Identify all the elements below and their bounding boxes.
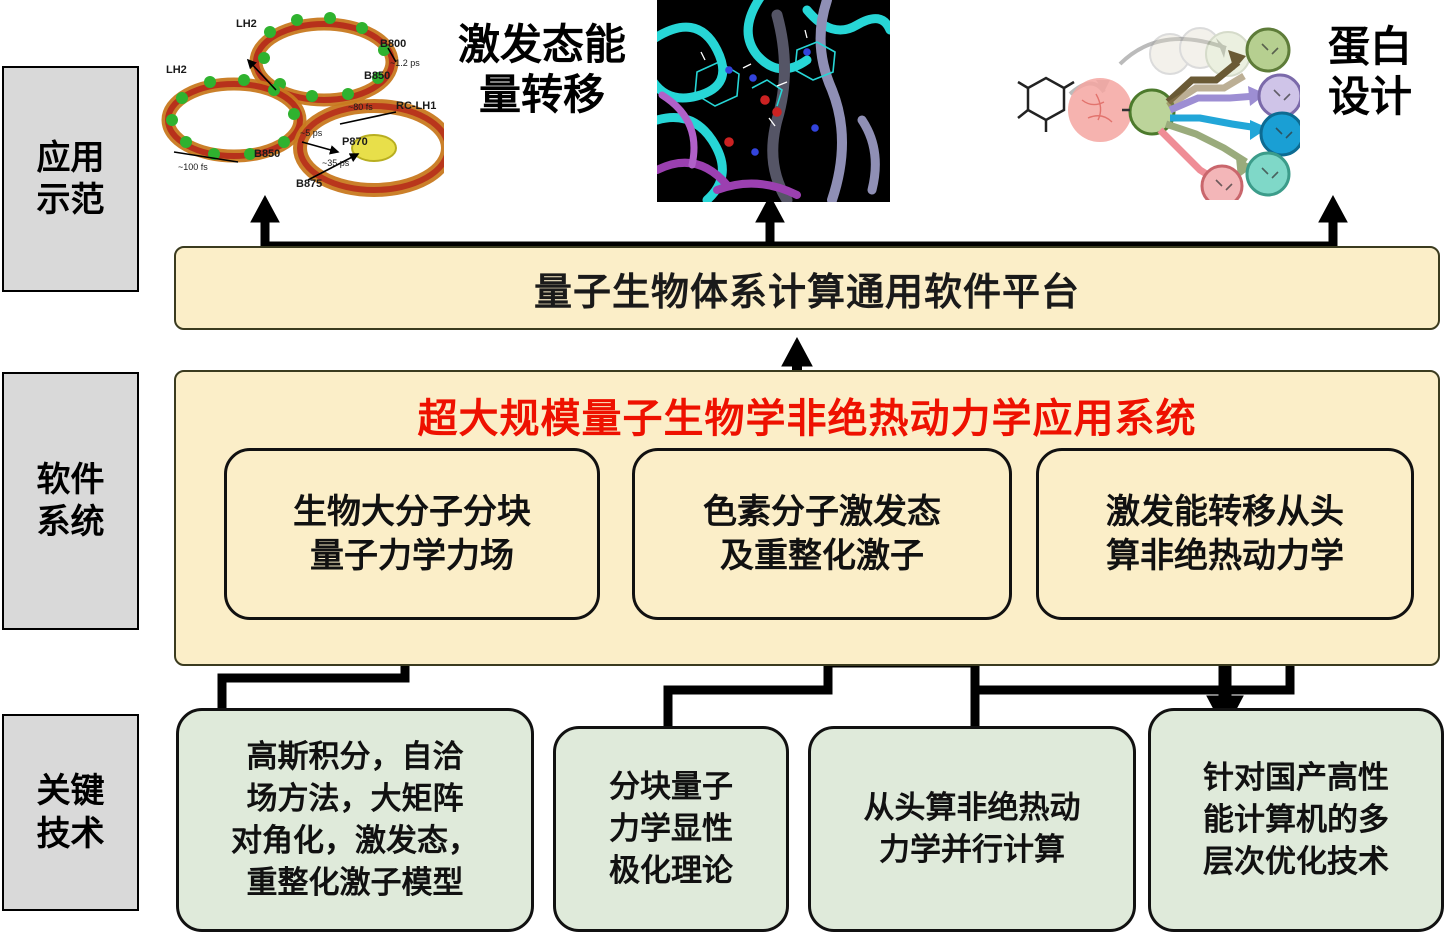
molecular-structure-illustration xyxy=(657,0,890,202)
tech-box-fragment-qm-polarization[interactable]: 分块量子 力学显性 极化理论 xyxy=(553,726,789,932)
software-platform-bar[interactable]: 量子生物体系计算通用软件平台 xyxy=(174,246,1440,330)
lh-label-lh2-left: LH2 xyxy=(166,64,187,76)
tech-label: 分块量子 力学显性 极化理论 xyxy=(609,766,733,892)
lh-rate-5: ~100 fs xyxy=(178,162,208,172)
category-label: 关键 技术 xyxy=(37,770,105,855)
platform-label: 量子生物体系计算通用软件平台 xyxy=(534,261,1080,316)
card-label: 色素分子激发态 及重整化激子 xyxy=(703,490,941,578)
lh-rate-1: ~1.2 ps xyxy=(390,58,420,68)
sidebar-item-software-system[interactable]: 软件 系统 xyxy=(2,372,139,630)
lh-label-b800: B800 xyxy=(380,38,406,50)
software-card-fragment-qm-force-field[interactable]: 生物大分子分块 量子力学力场 xyxy=(224,448,600,620)
tech-label: 高斯积分，自洽 场方法，大矩阵 对角化，激发态， 重整化激子模型 xyxy=(231,736,479,903)
tech-box-gaussian-scf-diagonalization[interactable]: 高斯积分，自洽 场方法，大矩阵 对角化，激发态， 重整化激子模型 xyxy=(176,708,534,932)
tech-label: 针对国产高性 能计算机的多 层次优化技术 xyxy=(1203,757,1389,883)
lh-rate-4: ~35 ps xyxy=(322,158,349,168)
software-system-panel: 超大规模量子生物学非绝热动力学应用系统 生物大分子分块 量子力学力场 色素分子激… xyxy=(174,370,1440,666)
software-card-pigment-excited-state-exciton[interactable]: 色素分子激发态 及重整化激子 xyxy=(632,448,1012,620)
software-system-title: 超大规模量子生物学非绝热动力学应用系统 xyxy=(176,386,1438,444)
card-label: 生物大分子分块 量子力学力场 xyxy=(293,490,531,578)
category-label: 应用 示范 xyxy=(37,137,105,222)
lh-label-rc-lh1: RC-LH1 xyxy=(396,100,436,112)
sidebar-item-application-demo[interactable]: 应用 示范 xyxy=(2,66,139,292)
caption-protein-design: 蛋白 设计 xyxy=(1300,22,1440,123)
lh-label-b875: B875 xyxy=(296,178,322,190)
category-label: 软件 系统 xyxy=(37,459,105,544)
protein-design-illustration xyxy=(1000,14,1300,200)
lh-label-p870: P870 xyxy=(342,136,368,148)
light-harvesting-complex-illustration: LH2 LH2 B800 B850 B850 RC-LH1 P870 B875 … xyxy=(152,2,444,210)
caption-excited-state-energy-transfer: 激发态能 量转移 xyxy=(432,20,652,121)
lh-label-lh2-top: LH2 xyxy=(236,18,257,30)
card-label: 激发能转移从头 算非绝热动力学 xyxy=(1106,490,1344,578)
lh-rate-2: ~80 fs xyxy=(348,102,373,112)
tech-label: 从头算非绝热动 力学并行计算 xyxy=(864,787,1081,871)
tech-box-domestic-hpc-optimization[interactable]: 针对国产高性 能计算机的多 层次优化技术 xyxy=(1148,708,1444,932)
sidebar-item-key-technology[interactable]: 关键 技术 xyxy=(2,714,139,911)
lh-label-b850-left: B850 xyxy=(254,148,280,160)
tech-box-ab-initio-parallel-computing[interactable]: 从头算非绝热动 力学并行计算 xyxy=(808,726,1136,932)
lh-label-b850-top: B850 xyxy=(364,70,390,82)
lh-rate-3: ~5 ps xyxy=(300,128,322,138)
software-card-eet-ab-initio-nonadiabatic[interactable]: 激发能转移从头 算非绝热动力学 xyxy=(1036,448,1414,620)
